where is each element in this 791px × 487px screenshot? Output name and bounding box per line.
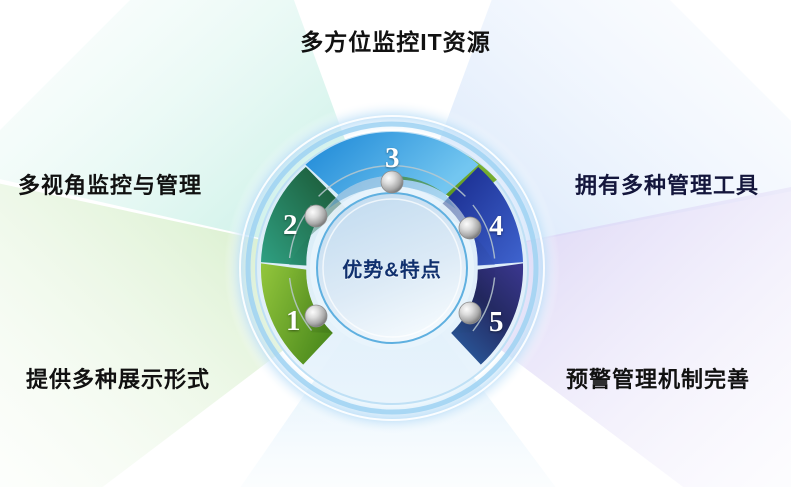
label-top-left: 多视角监控与管理 — [18, 168, 202, 200]
label-bottom-right: 预警管理机制完善 — [566, 362, 750, 394]
segment-number-4: 4 — [489, 210, 504, 243]
segment-number-2: 2 — [283, 209, 298, 242]
label-bottom-left: 提供多种展示形式 — [26, 362, 210, 394]
marker-2-icon[interactable] — [305, 205, 327, 227]
label-top-right: 拥有多种管理工具 — [575, 168, 759, 200]
segment-number-1: 1 — [286, 305, 301, 338]
donut-wheel — [0, 0, 791, 487]
segment-number-3: 3 — [385, 142, 400, 175]
label-top: 多方位监控IT资源 — [0, 23, 791, 57]
infographic-canvas: 1 2 3 4 5 优势&特点 多方位监控IT资源 多视角监控与管理 提供多种展… — [0, 0, 791, 487]
marker-1-icon[interactable] — [305, 305, 327, 327]
marker-4-icon[interactable] — [459, 217, 481, 239]
marker-5-icon[interactable] — [459, 302, 481, 324]
center-label: 优势&特点 — [342, 254, 441, 283]
segment-number-5: 5 — [489, 306, 504, 339]
